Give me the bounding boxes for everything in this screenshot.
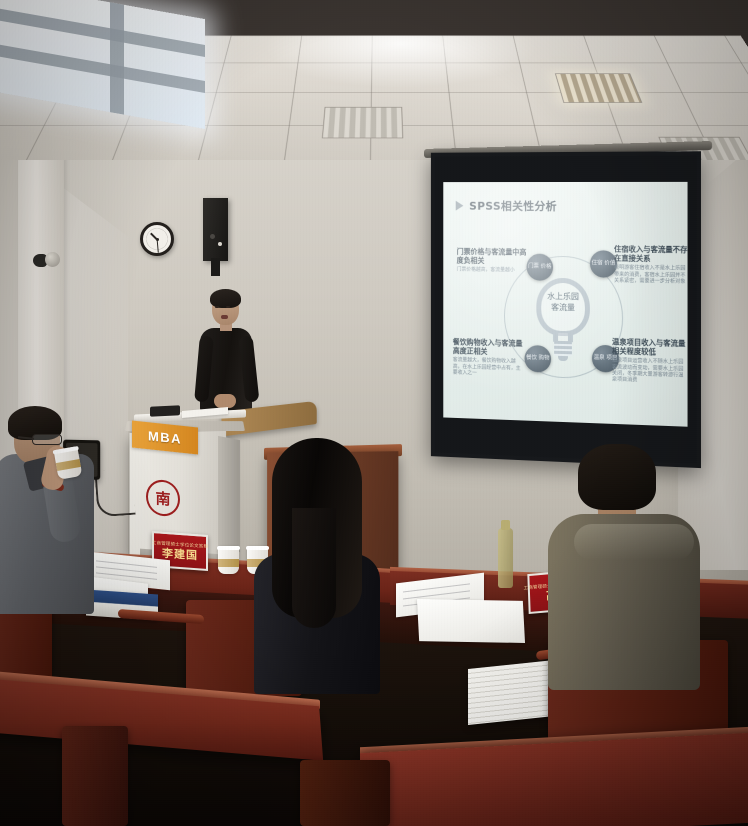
blurb-body: 表明游客住宿收入不是水上乐园带来的消费，客宿水上乐园并不关系紧密，需要进一步分析… <box>614 265 688 285</box>
eyeglasses <box>32 434 62 445</box>
blurb-body: 温泉项目运营收入不随水上乐园客流波动而变动，需要水上乐园关闭，冬季期大量游客转游… <box>612 358 688 385</box>
speaker-mount-bracket <box>211 258 220 276</box>
blurb-body: 门票价格越高，客流量越小 <box>457 267 529 274</box>
diagram-blurb-dining-retail: 餐饮购物收入与客流量高度正相关 客流量越大，餐饮购物收入越高，在水上乐园经营中占… <box>453 337 525 378</box>
paper-cup <box>218 546 239 574</box>
attendee-right <box>568 444 728 704</box>
cup-band <box>56 459 81 471</box>
wall-speaker <box>203 198 228 261</box>
attendee-right-shoulder-highlight <box>574 524 694 560</box>
clock-center-pin <box>156 238 159 241</box>
paper-cup <box>54 446 83 480</box>
wall-clock <box>140 222 174 256</box>
speaker-driver <box>210 234 215 239</box>
lightbulb-base <box>554 341 572 356</box>
presenter-mouth <box>221 315 228 319</box>
wall-pillar <box>18 150 64 450</box>
ceiling-glare <box>255 36 551 89</box>
attendee-left <box>0 406 110 626</box>
center-label-line2: 客流量 <box>536 302 590 314</box>
blurb-heading: 门票价格与客流量中高度负相关 <box>457 247 529 266</box>
diagram-blurb-accommodation: 住宿收入与客流量不存在直接关系 表明游客住宿收入不是水上乐园带来的消费，客宿水上… <box>614 244 688 285</box>
cup-rim <box>217 546 240 550</box>
cup-rim <box>246 546 269 550</box>
university-seal-glyph: 南 <box>155 487 170 509</box>
diagram-blurb-hot-spring: 温泉项目收入与客流量相关程度较低 温泉项目运营收入不随水上乐园客流波动而变动，需… <box>612 337 688 385</box>
blurb-heading: 餐饮购物收入与客流量高度正相关 <box>453 337 525 357</box>
podium-laptop[interactable] <box>150 405 180 417</box>
ceiling-light-panel <box>555 73 642 102</box>
presenter-eye <box>226 306 230 308</box>
projector-screen[interactable]: SPSS相关性分析 水上乐园 客流量 门票 价格 住宿 价值 餐饮 购物 <box>431 151 701 468</box>
presenter-eye <box>215 306 219 308</box>
bottle-cap <box>501 520 510 530</box>
slide-title-row: SPSS相关性分析 <box>456 198 557 214</box>
window-mullion <box>110 2 124 114</box>
speaker-driver <box>218 242 222 246</box>
spotlight-bulb <box>45 252 60 267</box>
blurb-body: 客流量越大，餐饮购物收入越高，在水上乐园经营中占有，主要收入之一 <box>453 357 525 377</box>
water-bottle <box>498 528 513 588</box>
slide-surface: SPSS相关性分析 水上乐园 客流量 门票 价格 住宿 价值 餐饮 购物 <box>443 182 687 427</box>
blurb-heading: 住宿收入与客流量不存在直接关系 <box>614 244 688 263</box>
podium-side-panel <box>218 436 240 552</box>
correlation-diagram: 水上乐园 客流量 门票 价格 住宿 价值 餐饮 购物 温泉 项目 门票价格与客流… <box>443 221 687 416</box>
cup-band <box>218 559 239 567</box>
diagram-node-ticket-price: 门票 价格 <box>526 254 553 281</box>
chair[interactable] <box>62 726 128 826</box>
triangle-bullet-icon <box>456 201 464 211</box>
diagram-node-dining-retail: 餐饮 购物 <box>525 345 552 373</box>
presenter-hands <box>214 394 236 408</box>
diagram-blurb-ticket-price: 门票价格与客流量中高度负相关 门票价格越高，客流量越小 <box>457 247 529 274</box>
attendee-right-hair <box>578 444 656 510</box>
blurb-heading: 温泉项目收入与客流量相关程度较低 <box>612 337 688 358</box>
wall-spotlight <box>33 252 63 268</box>
attendee-center <box>272 438 398 698</box>
paper-sheets <box>417 599 525 643</box>
diagram-node-accommodation: 住宿 价值 <box>590 250 617 278</box>
diagram-center-label: 水上乐园 客流量 <box>536 291 590 314</box>
attendee-center-hair-strand <box>292 508 336 628</box>
chair[interactable] <box>300 760 390 826</box>
ceiling-light-panel <box>322 107 403 138</box>
lightbulb-tip <box>558 356 568 361</box>
slide-title: SPSS相关性分析 <box>469 198 557 214</box>
seminar-room-photo: SPSS相关性分析 水上乐园 客流量 门票 价格 住宿 价值 餐饮 购物 <box>0 0 748 826</box>
podium-banner-label: MBA <box>148 428 182 447</box>
